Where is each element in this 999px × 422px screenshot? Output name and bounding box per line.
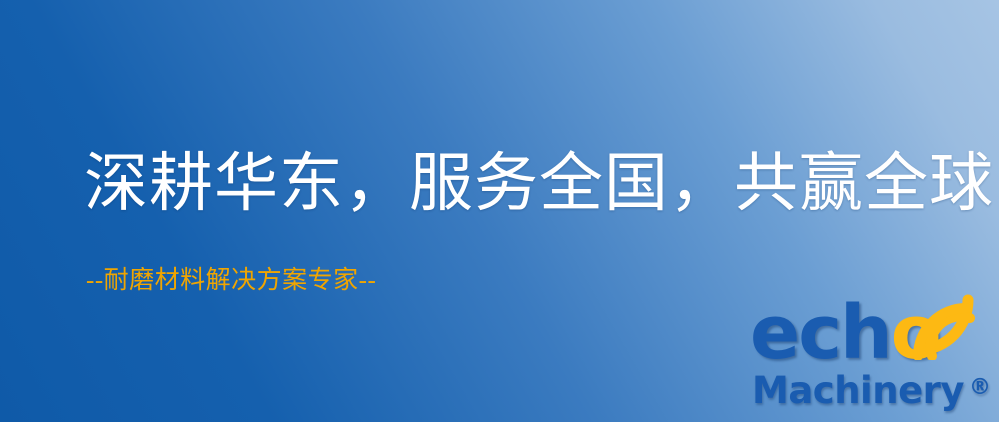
logo-subtext: Machinery xyxy=(752,369,964,412)
logo-wordmark-prefix: ech xyxy=(750,290,891,376)
echo-machinery-logo: echo Machinery® xyxy=(750,296,999,422)
banner-headline: 深耕华东，服务全国，共赢全球 xyxy=(84,152,994,216)
promotional-banner: 深耕华东，服务全国，共赢全球 --耐磨材料解决方案专家-- echo Machi… xyxy=(0,0,999,422)
signal-arcs-icon xyxy=(910,292,980,360)
registered-trademark-icon: ® xyxy=(969,375,991,400)
logo-subtext-group: Machinery® xyxy=(752,372,991,409)
banner-subtitle: --耐磨材料解决方案专家-- xyxy=(86,268,376,293)
